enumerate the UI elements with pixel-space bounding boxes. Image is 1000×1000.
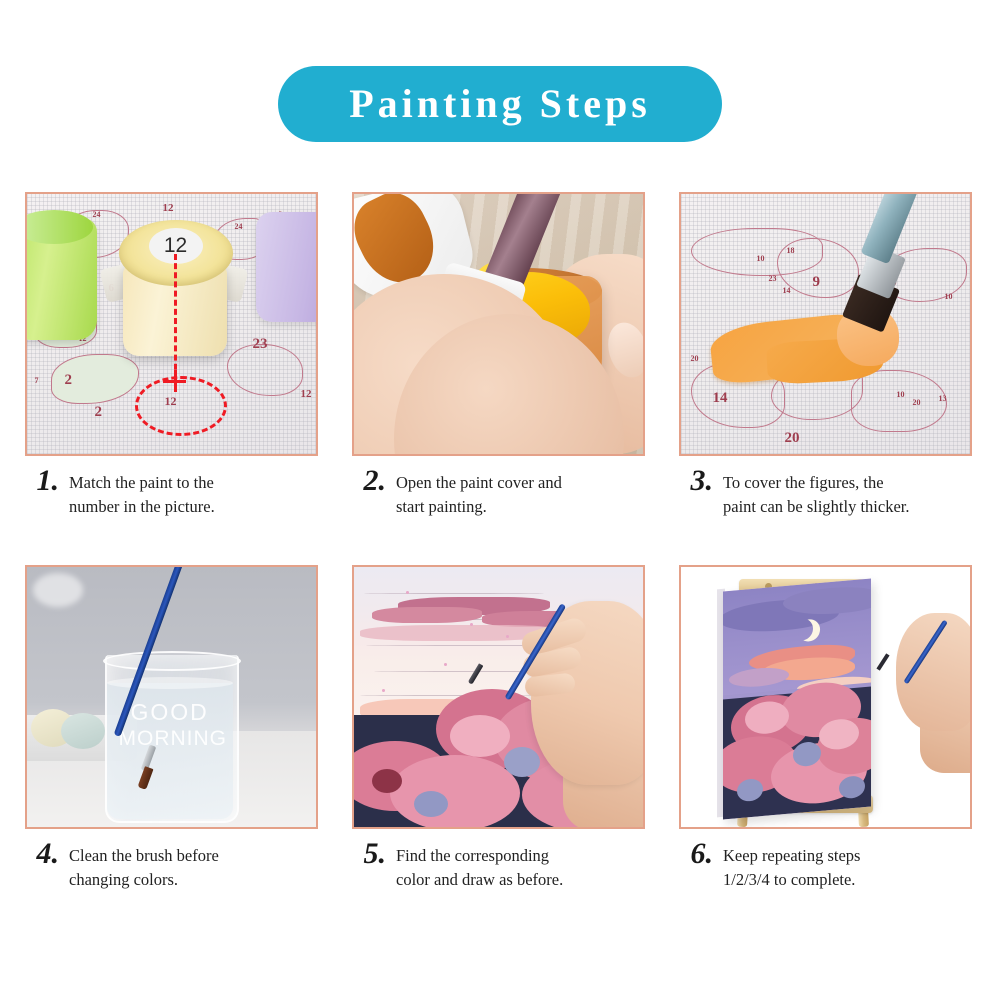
background-blur-object: [33, 573, 83, 607]
canvas-number: 14: [713, 390, 728, 407]
step-5-text-line2: color and draw as before.: [396, 870, 563, 889]
blossom-cluster: [390, 755, 520, 827]
guide-dashed-line: [174, 254, 177, 388]
step-6-image: [681, 567, 970, 827]
canvas-number: 10: [757, 254, 765, 263]
step-5-number: 5.: [364, 839, 387, 869]
canvas-number: 12: [301, 388, 312, 400]
page-title: Painting Steps: [349, 84, 651, 124]
step-2-text: Open the paint cover and start painting.: [396, 466, 562, 519]
step-1-number: 1.: [37, 466, 60, 496]
step-1-image: 12 24 2 24 7 6 5 12 2 7 2 23 24 23: [27, 194, 316, 454]
guide-dot: [506, 635, 509, 638]
step-2-caption: 2. Open the paint cover and start painti…: [352, 466, 649, 519]
step-1-photo-frame: 12 24 2 24 7 6 5 12 2 7 2 23 24 23: [25, 192, 318, 456]
canvas-number: 2: [65, 372, 73, 389]
canvas-number: 13: [939, 394, 947, 403]
step-6-text: Keep repeating steps 1/2/3/4 to complete…: [723, 839, 860, 892]
canvas-number: 24: [235, 222, 243, 231]
title-pill: Painting Steps: [278, 66, 722, 142]
canvas-number: 12: [163, 202, 174, 214]
step-3-text-line1: To cover the figures, the: [723, 473, 884, 492]
finished-painting-canvas: [723, 578, 871, 819]
step-6-number: 6.: [691, 839, 714, 869]
glass-text-line2: MORNING: [119, 727, 228, 751]
step-card-5: 5. Find the corresponding color and draw…: [352, 565, 649, 892]
step-3-number: 3.: [691, 466, 714, 496]
step-5-caption: 5. Find the corresponding color and draw…: [352, 839, 649, 892]
decor-object-mint: [61, 713, 105, 749]
blossom-blue-accent: [504, 747, 540, 777]
canvas-number: 7: [35, 376, 39, 385]
step-1-caption: 1. Match the paint to the number in the …: [25, 466, 322, 519]
canvas-number: 20: [785, 430, 800, 447]
water-line: [107, 677, 233, 689]
blossom-dark-accent: [372, 769, 402, 793]
step-6-caption: 6. Keep repeating steps 1/2/3/4 to compl…: [679, 839, 976, 892]
step-4-number: 4.: [37, 839, 60, 869]
canvas-number: 2: [95, 404, 103, 421]
step-2-number: 2.: [364, 466, 387, 496]
step-1-text-line2: number in the picture.: [69, 497, 215, 516]
guide-dot: [470, 623, 473, 626]
step-5-text-line1: Find the corresponding: [396, 846, 549, 865]
step-2-text-line1: Open the paint cover and: [396, 473, 562, 492]
glass-rim: [103, 651, 241, 671]
step-4-text-line1: Clean the brush before: [69, 846, 219, 865]
canvas-number: 24: [93, 210, 101, 219]
glass-text-line1: GOOD: [131, 699, 209, 726]
paint-pot-purple: [256, 212, 316, 322]
canvas-number: 10: [897, 390, 905, 399]
step-5-photo-frame: [352, 565, 645, 829]
canvas-number: 20: [913, 398, 921, 407]
canvas-number: 18: [787, 246, 795, 255]
step-card-3: 10 18 23 14 9 20 19 10 20 13 14 20 10 20: [679, 192, 976, 519]
step-3-caption: 3. To cover the figures, the paint can b…: [679, 466, 976, 519]
step-3-text: To cover the figures, the paint can be s…: [723, 466, 910, 519]
sky-band-pink: [372, 607, 482, 623]
header: Painting Steps: [0, 66, 1000, 144]
step-4-text-line2: changing colors.: [69, 870, 178, 889]
step-6-text-line2: 1/2/3/4 to complete.: [723, 870, 855, 889]
canvas-number: 14: [783, 286, 791, 295]
canvas-number: 10: [945, 292, 953, 301]
step-card-6: 6. Keep repeating steps 1/2/3/4 to compl…: [679, 565, 976, 892]
steps-row-2: GOOD MORNING 4. Clean the brush before c…: [0, 565, 1000, 892]
step-5-text: Find the corresponding color and draw as…: [396, 839, 563, 892]
guide-dot: [406, 591, 409, 594]
blossom-highlight: [450, 715, 510, 757]
canvas-number: 20: [691, 354, 699, 363]
hand: [896, 613, 970, 731]
step-4-photo-frame: GOOD MORNING: [25, 565, 318, 829]
painting-steps-infographic: Painting Steps: [0, 0, 1000, 1000]
step-3-photo-frame: 10 18 23 14 9 20 19 10 20 13 14 20 10 20: [679, 192, 972, 456]
canvas-number: 9: [813, 274, 821, 291]
step-card-1: 12 24 2 24 7 6 5 12 2 7 2 23 24 23: [25, 192, 322, 519]
canvas-region: [851, 370, 947, 432]
step-card-2: 2. Open the paint cover and start painti…: [352, 192, 649, 519]
step-6-text-line1: Keep repeating steps: [723, 846, 860, 865]
step-6-photo-frame: [679, 565, 972, 829]
blossom-blue-accent: [414, 791, 448, 817]
guide-dot: [444, 663, 447, 666]
steps-grid: 12 24 2 24 7 6 5 12 2 7 2 23 24 23: [0, 192, 1000, 892]
step-4-text: Clean the brush before changing colors.: [69, 839, 219, 892]
guide-highlight-ellipse: [135, 376, 227, 436]
step-1-text: Match the paint to the number in the pic…: [69, 466, 215, 519]
step-3-image: 10 18 23 14 9 20 19 10 20 13 14 20 10 20: [681, 194, 970, 454]
step-5-image: [354, 567, 643, 827]
steps-row-1: 12 24 2 24 7 6 5 12 2 7 2 23 24 23: [0, 192, 1000, 519]
guide-line: [364, 593, 544, 594]
guide-dot: [382, 689, 385, 692]
canvas-number: 23: [253, 336, 268, 353]
target-region-number: 12: [165, 394, 177, 409]
step-4-caption: 4. Clean the brush before changing color…: [25, 839, 322, 892]
step-2-text-line2: start painting.: [396, 497, 487, 516]
canvas-number: 23: [769, 274, 777, 283]
step-4-image: GOOD MORNING: [27, 567, 316, 827]
paint-pot-green: [27, 218, 97, 340]
step-2-image: [354, 194, 643, 454]
step-card-4: GOOD MORNING 4. Clean the brush before c…: [25, 565, 322, 892]
step-1-text-line1: Match the paint to the: [69, 473, 214, 492]
step-3-text-line2: paint can be slightly thicker.: [723, 497, 910, 516]
step-2-photo-frame: [352, 192, 645, 456]
